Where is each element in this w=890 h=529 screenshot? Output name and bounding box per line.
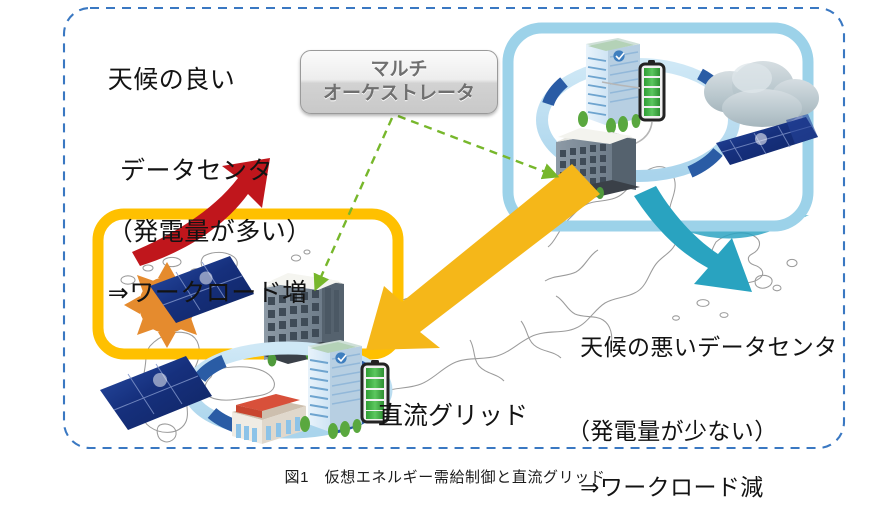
good-dc-line4: ⇒ワークロード増 xyxy=(108,279,308,307)
dc-grid-label: 直流グリッド xyxy=(378,401,528,432)
bad-dc-line1: 天候の悪いデータセンタ xyxy=(580,334,837,360)
green-control-dashed-arrow-right xyxy=(398,116,556,176)
good-dc-line3: （発電量が多い） xyxy=(108,218,312,246)
figure-canvas: 天候の良い データセンタ （発電量が多い） ⇒ワークロード増 天候の悪いデータセ… xyxy=(0,0,890,500)
good-dc-line1: 天候の良い xyxy=(108,66,236,94)
orchestrator-line1: マルチ xyxy=(370,58,427,82)
good-weather-dc-label: 天候の良い データセンタ （発電量が多い） ⇒ワークロード増 xyxy=(78,34,312,339)
bad-weather-dc-label: 天候の悪いデータセンタ （発電量が少ない） ⇒ワークロード減 xyxy=(553,305,838,529)
multi-orchestrator-box: マルチ オーケストレータ xyxy=(300,50,498,114)
datacenter-building-icon-left xyxy=(300,340,362,439)
good-dc-line2: データセンタ xyxy=(78,156,312,187)
teal-workload-decrease-arrow xyxy=(634,186,752,292)
bad-dc-line2: （発電量が少ない） xyxy=(553,417,838,445)
figure-caption: 図1 仮想エネルギー需給制御と直流グリッド xyxy=(0,466,890,487)
orchestrator-line2: オーケストレータ xyxy=(323,82,475,106)
